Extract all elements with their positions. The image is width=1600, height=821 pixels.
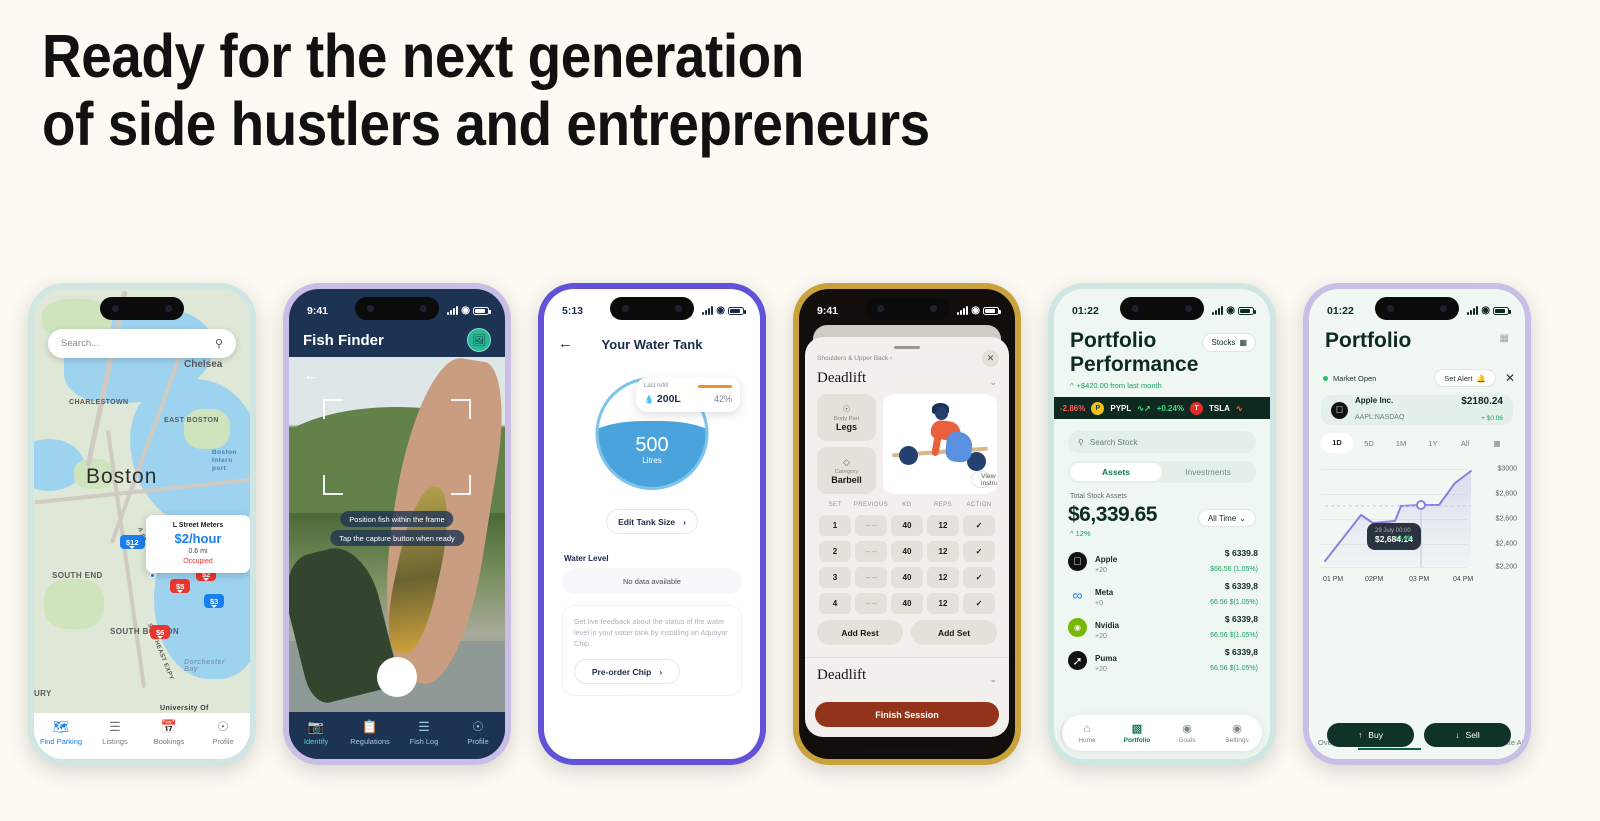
holdings-list:  Apple +20 $ 6339.8 $66.56 (1.05%) ∞ <box>1068 545 1258 677</box>
add-rest-button[interactable]: Add Rest <box>817 620 903 645</box>
search-icon[interactable]: ⚲ <box>215 337 223 350</box>
settings-icon: ◉ <box>1212 723 1262 736</box>
segment-assets[interactable]: Assets <box>1070 463 1162 481</box>
battery-icon <box>983 307 999 315</box>
refill-bar <box>698 385 732 388</box>
range-selector: 1D 5D 1M 1Y All ▦ <box>1321 433 1513 453</box>
tab-identify[interactable]: 📷Identify <box>289 719 343 746</box>
hint-capture: Tap the capture button when ready <box>330 530 464 546</box>
bottom-nav: 🗺Find Parking ☰Listings 📅Bookings ☉Profi… <box>34 713 250 759</box>
spot-status: Occupied <box>152 558 244 565</box>
tab-listings[interactable]: ☰Listings <box>88 719 142 746</box>
wifi-icon: ◉ <box>1226 306 1235 316</box>
status-time: 01:22 <box>1327 305 1354 317</box>
wifi-icon: ◉ <box>971 306 980 316</box>
nav-goals[interactable]: ◉Goals <box>1162 723 1212 744</box>
image-icon[interactable]: 🖼 <box>467 328 491 352</box>
portfolio-subtitle: ^ +$420.00 from last month <box>1070 381 1162 390</box>
close-icon[interactable]: ✕ <box>982 350 999 367</box>
wifi-icon: ◉ <box>461 306 470 316</box>
account-icon: ☉ <box>451 719 505 734</box>
total-label: Total Stock Assets <box>1070 493 1127 500</box>
battery-icon <box>473 307 489 315</box>
phone-workout: 9:41 ◉ ✕ Shoulders & Upper Back ‹ Deadli… <box>793 283 1021 765</box>
sell-button[interactable]: ↓Sell <box>1424 723 1511 747</box>
goals-icon: ◉ <box>1162 723 1212 736</box>
no-data-banner: No data available <box>562 568 742 594</box>
status-time: 9:41 <box>817 305 838 317</box>
list-item[interactable]:  Apple +20 $ 6339.8 $66.56 (1.05%) <box>1068 545 1258 578</box>
edit-tank-size-button[interactable]: Edit Tank Size › <box>606 509 698 534</box>
meta-icon: ∞ <box>1068 585 1087 604</box>
arrow-up-icon: ↑ <box>1358 730 1362 740</box>
company-symbol: AAPL:NASDAQ <box>1355 414 1404 421</box>
body-icon: ☉ <box>842 404 850 415</box>
sets-table-header: SET PREVIOUS KG REPS ACTION <box>817 502 997 508</box>
map-pin[interactable]: $12 <box>120 535 145 549</box>
device-notch <box>355 297 439 320</box>
search-input[interactable]: Search... ⚲ <box>48 329 236 358</box>
status-time: 9:41 <box>307 305 328 317</box>
table-row[interactable]: 2 – – 40 12 ✓ <box>817 541 997 562</box>
total-change: ^ 12% <box>1070 529 1091 538</box>
chevron-right-icon: › <box>683 517 686 527</box>
tab-find-parking[interactable]: 🗺Find Parking <box>34 719 88 746</box>
chart-tooltip: 29 July 00:00 $2,684.14 +3.4% <box>1367 523 1421 550</box>
frame-corner <box>323 399 343 419</box>
map-icon: 🗺 <box>34 719 88 734</box>
tab-profile[interactable]: ☉Profile <box>451 719 505 746</box>
camera-icon: 📷 <box>289 719 343 734</box>
view-instructions-button[interactable]: View instructions ⌄ <box>971 471 991 488</box>
range-5d[interactable]: 5D <box>1353 439 1385 448</box>
phone-find-parking: Chelsea CHARLESTOWN EAST BOSTON Boston S… <box>28 283 256 765</box>
tesla-icon: T <box>1190 402 1203 415</box>
signal-icon <box>702 306 713 315</box>
meta-body-part: ☉ Body Part Legs <box>817 394 876 441</box>
map-pin[interactable]: $5 <box>170 579 190 593</box>
add-set-button[interactable]: Add Set <box>911 620 997 645</box>
tank-value: 500 <box>599 434 706 456</box>
tank-unit: Litres <box>599 456 706 465</box>
app-title: Fish Finder <box>303 332 384 349</box>
arrow-down-icon: ↓ <box>1455 730 1459 740</box>
phone-water-tank: 5:13 ◉ ← Your Water Tank 500 Litres <box>538 283 766 765</box>
phone-portfolio: 01:22 ◉ Portfolio Performance Stocks ▦ <box>1048 283 1276 765</box>
bell-icon: 🔔 <box>1477 374 1486 383</box>
stock-detail-sheet: Market Open Set Alert 🔔 ✕  Apple Inc. A… <box>1309 361 1525 759</box>
exercise-title-2: Deadlift <box>817 667 866 684</box>
grid-icon[interactable]: ▦ <box>1481 439 1513 448</box>
parking-spot-card[interactable]: L Street Meters $2/hour 0.6 mi Occupied <box>146 515 250 573</box>
device-notch <box>610 297 694 320</box>
home-icon: ⌂ <box>1062 723 1112 736</box>
refill-percent: 42% <box>714 394 732 404</box>
section-label: Water Level <box>564 554 609 563</box>
nav-home[interactable]: ⌂Home <box>1062 723 1112 744</box>
search-stock-input[interactable]: ⚲ Search Stock <box>1068 431 1256 453</box>
segment-investments[interactable]: Investments <box>1162 463 1254 481</box>
battery-icon <box>1493 307 1509 315</box>
bottom-nav: ⌂Home ▧Portfolio ◉Goals ◉Settings <box>1062 715 1262 751</box>
spot-price: $2/hour <box>152 531 244 546</box>
tab-regulations[interactable]: 📋Regulations <box>343 719 397 746</box>
chevron-down-icon[interactable]: ⌄ <box>989 377 997 388</box>
stock-change: + $0.06 <box>1481 415 1503 422</box>
status-time: 5:13 <box>562 305 583 317</box>
sparkline: ∿↗ <box>1137 404 1150 413</box>
device-notch <box>1375 297 1459 320</box>
bottom-nav: 📷Identify 📋Regulations ☰Fish Log ☉Profil… <box>289 713 505 759</box>
finish-session-button[interactable]: Finish Session <box>815 702 999 727</box>
range-1y[interactable]: 1Y <box>1417 439 1449 448</box>
breadcrumb[interactable]: Shoulders & Upper Back ‹ <box>817 355 892 362</box>
spot-distance: 0.6 mi <box>152 548 244 555</box>
nav-portfolio[interactable]: ▧Portfolio <box>1112 723 1162 744</box>
battery-icon <box>728 307 744 315</box>
chip-promo-card: Get live feedback about the status of th… <box>562 605 742 696</box>
map-pin[interactable]: $6 <box>150 625 170 639</box>
device-notch <box>865 297 949 320</box>
refill-amount: 200L <box>657 393 681 405</box>
clipboard-icon: 📋 <box>343 719 397 734</box>
stock-header-card[interactable]:  Apple Inc. AAPL:NASDAQ $2180.24 + $0.0… <box>1321 395 1513 425</box>
search-icon: ⚲ <box>1078 438 1084 447</box>
list-item[interactable]: ◉ Nvidia +20 $ 6339,8 66.56 $(1.05%) <box>1068 611 1258 644</box>
market-status: Market Open <box>1333 374 1376 383</box>
refill-label: Last refill <box>644 383 668 389</box>
phone-stock-detail: 01:22 ◉ Portfolio ▦ Market Open Set Aler… <box>1303 283 1531 765</box>
x-tick: 01 PM <box>1323 576 1343 583</box>
y-tick: $3000 <box>1498 466 1517 473</box>
stock-ticker[interactable]: -2.86% P PYPL ∿↗ +0.24% T TSLA ∿ <box>1054 397 1270 419</box>
apple-icon:  <box>1068 552 1087 571</box>
spot-title: L Street Meters <box>152 522 244 529</box>
price-chart[interactable]: $3000 $2,800 $2,600 $2,400 $2,200 <box>1315 461 1521 581</box>
list-item[interactable]: ∞ Meta +0 $ 6339,8 66.56 $(1.05%) <box>1068 578 1258 611</box>
tooltip-change: +3.4% <box>1394 535 1413 542</box>
segmented-control: Assets Investments <box>1068 461 1256 483</box>
marketing-page: Ready for the next generation of side hu… <box>0 0 1600 821</box>
x-tick: 04 PM <box>1453 576 1473 583</box>
signal-icon <box>1467 306 1478 315</box>
wifi-icon: ◉ <box>1481 306 1490 316</box>
total-amount: $6,339.65 <box>1068 503 1157 527</box>
range-1d[interactable]: 1D <box>1321 433 1353 453</box>
table-row[interactable]: 4 – – 40 12 ✓ <box>817 593 997 614</box>
phone-showcase: Chelsea CHARLESTOWN EAST BOSTON Boston S… <box>0 283 1600 783</box>
chevron-down-icon[interactable]: ⌄ <box>989 674 997 685</box>
tab-fish-log[interactable]: ☰Fish Log <box>397 719 451 746</box>
page-headline: Ready for the next generation of side hu… <box>42 22 930 158</box>
list-icon: ☰ <box>397 719 451 734</box>
y-tick: $2,200 <box>1496 564 1517 571</box>
exercise-illustration: View instructions ⌄ <box>883 394 997 494</box>
y-tick: $2,400 <box>1496 541 1517 548</box>
status-dot <box>1323 376 1328 381</box>
device-notch <box>1120 297 1204 320</box>
list-item[interactable]: ➚ Puma +20 $ 6339,8 66.56 $(1.05%) <box>1068 644 1258 677</box>
x-tick: 03 PM <box>1409 576 1429 583</box>
droplet-icon: 💧 <box>644 395 654 404</box>
tab-bookings[interactable]: 📅Bookings <box>142 719 196 746</box>
nvidia-icon: ◉ <box>1068 618 1087 637</box>
preorder-chip-button[interactable]: Pre-order Chip › <box>574 659 680 684</box>
map-pin[interactable]: $3 <box>204 594 224 608</box>
puma-icon: ➚ <box>1068 651 1087 670</box>
trade-actions: ↑Buy ↓Sell <box>1327 723 1511 747</box>
home-indicator <box>861 749 953 753</box>
battery-icon <box>1238 307 1254 315</box>
market-status-row: Market Open Set Alert 🔔 ✕ <box>1323 369 1515 387</box>
capture-button[interactable] <box>377 657 417 697</box>
buy-button[interactable]: ↑Buy <box>1327 723 1414 747</box>
x-tick: 02PM <box>1365 576 1383 583</box>
frame-corner <box>451 475 471 495</box>
frame-corner <box>323 475 343 495</box>
set-alert-button[interactable]: Set Alert 🔔 <box>1434 369 1496 387</box>
close-icon[interactable]: ✕ <box>1505 371 1515 385</box>
hint-position: Position fish within the frame <box>340 511 453 527</box>
chart-svg <box>1321 461 1491 576</box>
chevron-right-icon: › <box>659 667 662 677</box>
barbell-icon: ◇ <box>843 457 850 468</box>
status-time: 01:22 <box>1072 305 1099 317</box>
stock-price: $2180.24 <box>1461 396 1503 407</box>
meta-category: ◇ Category Barbell <box>817 447 876 494</box>
list-icon: ☰ <box>88 719 142 734</box>
exercise-sheet: ✕ Shoulders & Upper Back ‹ Deadlift ⌄ ☉ … <box>805 337 1009 737</box>
table-row[interactable]: 3 – – 40 12 ✓ <box>817 567 997 588</box>
calendar-icon: 📅 <box>142 719 196 734</box>
app-header: Fish Finder 🖼 <box>289 323 505 357</box>
table-row[interactable]: 1 – – 40 12 ✓ <box>817 515 997 536</box>
sparkline: ∿ <box>1236 404 1243 413</box>
grid-icon: ▦ <box>1500 333 1509 344</box>
arrow-left-icon[interactable]: ← <box>303 367 319 385</box>
portfolio-icon: ▧ <box>1112 723 1162 736</box>
exercise-title: Deadlift <box>817 370 866 387</box>
device-notch <box>100 297 184 320</box>
signal-icon <box>447 306 458 315</box>
period-selector[interactable]: All Time ⌄ <box>1198 509 1256 527</box>
arrow-up-icon: ^ <box>1070 381 1074 390</box>
signal-icon <box>1212 306 1223 315</box>
background-title: Portfolio <box>1325 329 1411 353</box>
phone-fish-finder: 9:41 ◉ Fish Finder 🖼 <box>283 283 511 765</box>
drag-handle[interactable] <box>894 346 920 349</box>
page-title: Your Water Tank <box>544 329 760 359</box>
y-tick: $2,600 <box>1496 516 1517 523</box>
search-placeholder: Search... <box>61 338 99 349</box>
nav-settings[interactable]: ◉Settings <box>1212 723 1262 744</box>
page-title: Portfolio Performance <box>1070 329 1198 377</box>
range-all[interactable]: All <box>1449 439 1481 448</box>
apple-icon:  <box>1331 402 1348 419</box>
account-icon: ☉ <box>196 719 250 734</box>
paypal-icon: P <box>1091 402 1104 415</box>
signal-icon <box>957 306 968 315</box>
promo-text: Get live feedback about the status of th… <box>574 616 730 649</box>
last-refill-card: Last refill 💧 200L 42% <box>636 377 740 412</box>
tab-profile[interactable]: ☉Profile <box>196 719 250 746</box>
divider <box>805 657 1009 658</box>
range-1m[interactable]: 1M <box>1385 439 1417 448</box>
exercise-meta: ☉ Body Part Legs ◇ Category Barbell <box>817 394 876 500</box>
frame-corner <box>451 399 471 419</box>
y-tick: $2,800 <box>1496 491 1517 498</box>
wifi-icon: ◉ <box>716 306 725 316</box>
grid-icon: ▦ <box>1239 338 1247 347</box>
chevron-down-icon: ⌄ <box>1239 514 1246 523</box>
set-actions: Add Rest Add Set <box>817 620 997 645</box>
company-name: Apple Inc. <box>1355 396 1404 406</box>
stocks-button[interactable]: Stocks ▦ <box>1202 333 1256 352</box>
